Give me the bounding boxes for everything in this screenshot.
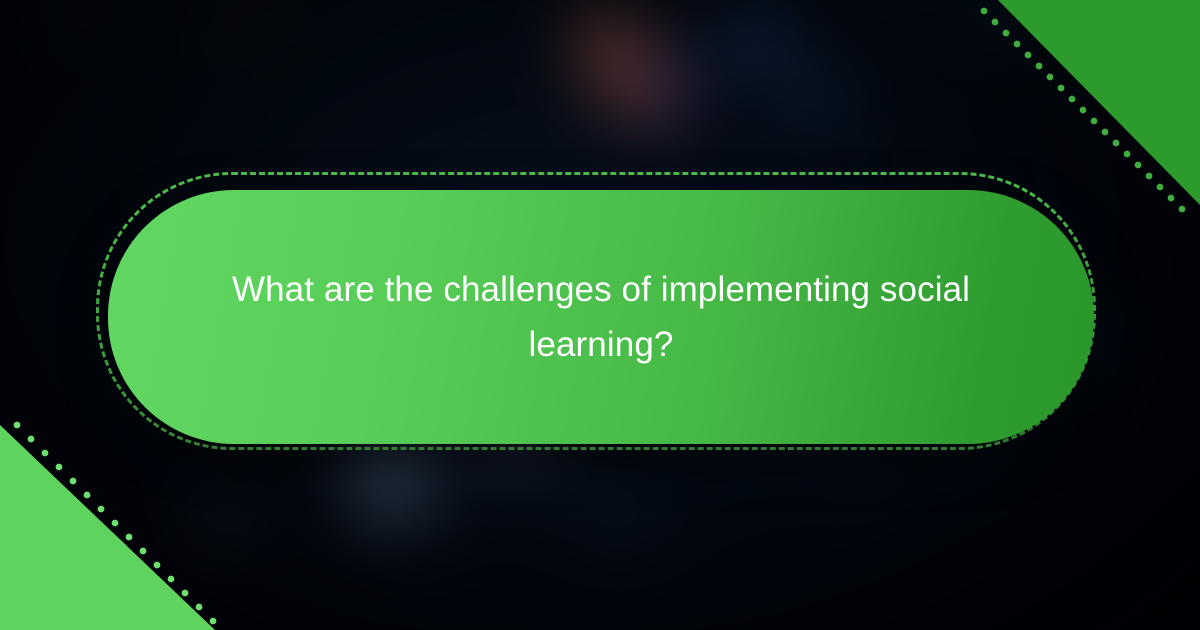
social-card-canvas: What are the challenges of implementing … — [0, 0, 1200, 630]
question-card: What are the challenges of implementing … — [108, 190, 1094, 444]
card-container: What are the challenges of implementing … — [0, 0, 1200, 630]
question-title: What are the challenges of implementing … — [181, 262, 1021, 373]
